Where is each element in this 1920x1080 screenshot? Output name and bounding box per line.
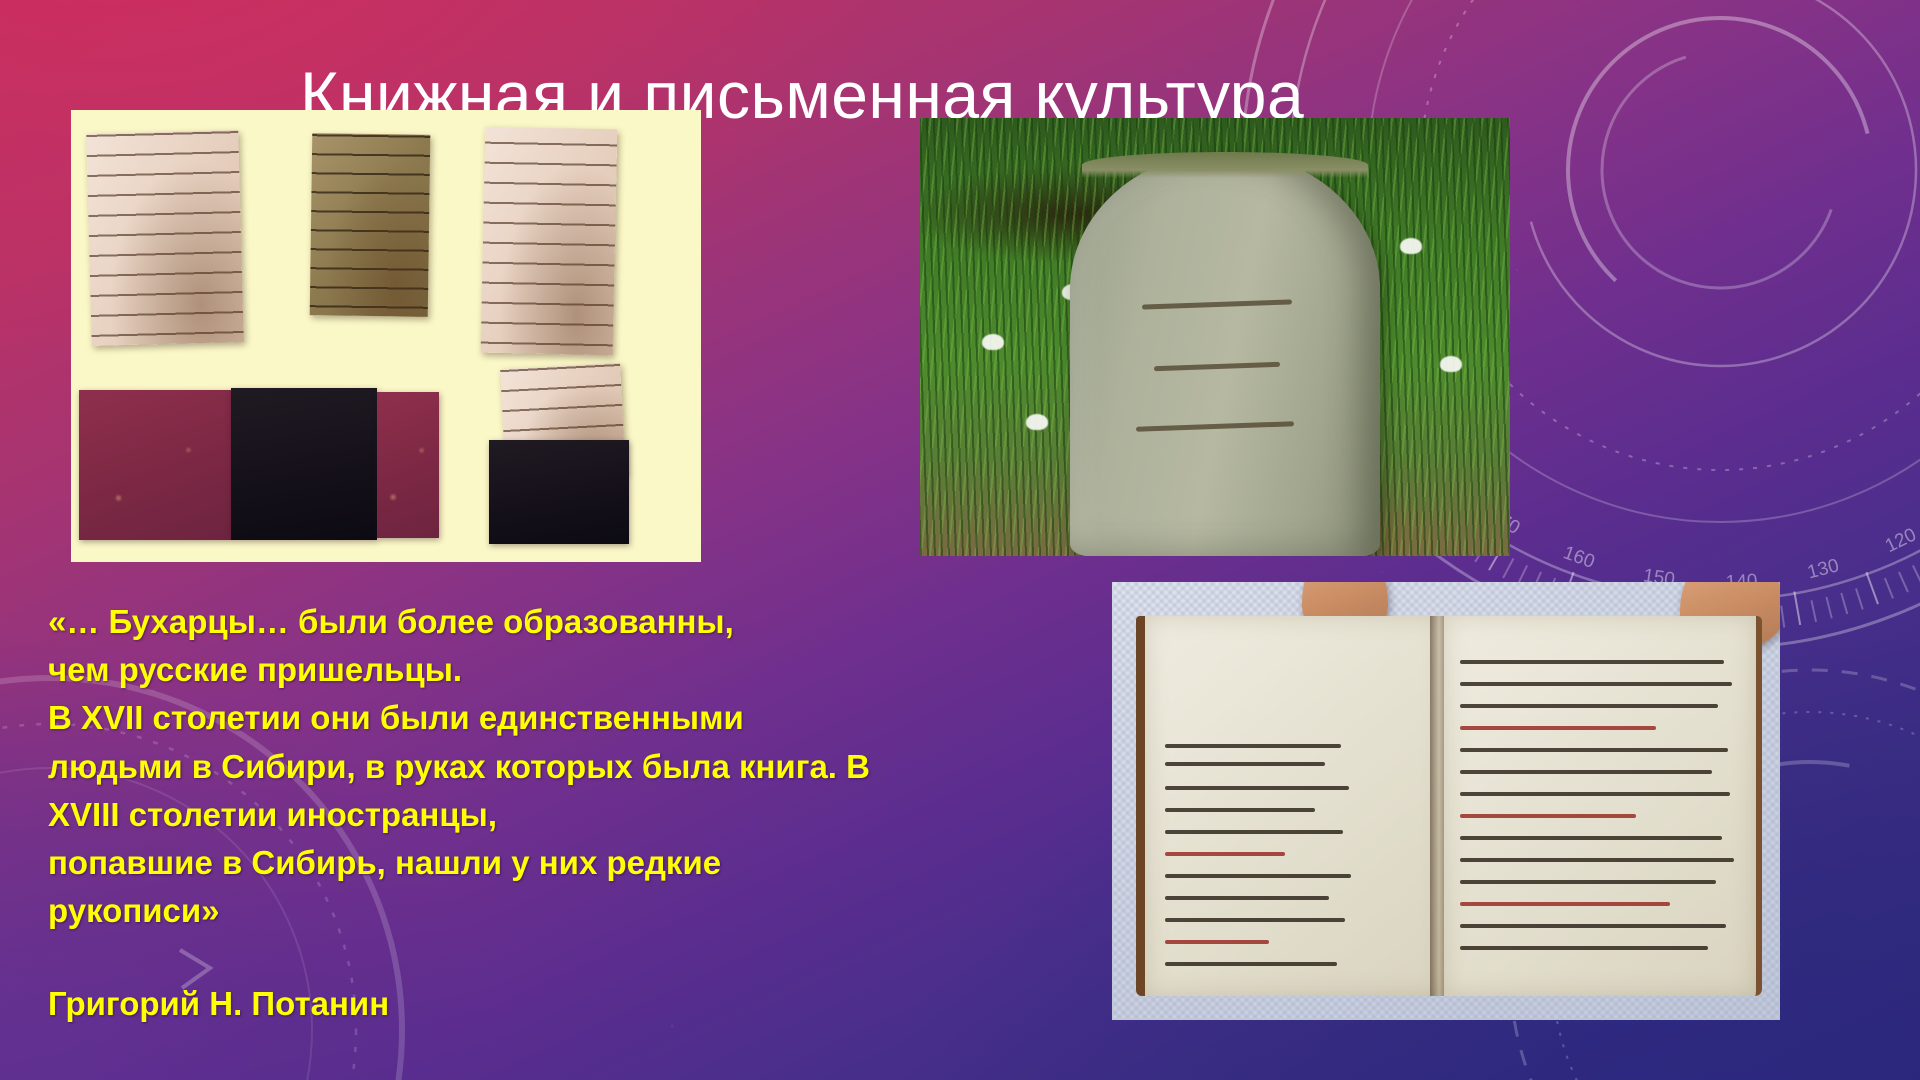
quote-line-3: В XVII столетии они были единственными (48, 694, 948, 742)
textile-wrap-maroon-left (79, 390, 231, 540)
book-page-right (1444, 616, 1762, 996)
slide-canvas: 8090100110120130140150160170180190200210… (0, 0, 1920, 1080)
textile-wrap-maroon-right (377, 392, 439, 538)
manuscript-page-3 (481, 127, 618, 356)
inscription-line-3 (1136, 421, 1294, 432)
inscription-line-2 (1154, 362, 1280, 371)
image-open-manuscript-book (1112, 582, 1780, 1020)
quote-attribution: Григорий Н. Потанин (48, 985, 389, 1023)
gravestone-slab (1070, 152, 1380, 556)
quote-text: «… Бухарцы… были более образованны, чем … (48, 598, 948, 935)
quote-line-7: рукописи» (48, 887, 948, 935)
flower-2 (1026, 414, 1048, 430)
textile-wrap-black-center (231, 388, 377, 540)
manuscript-page-1 (86, 130, 243, 346)
book-page-left (1136, 616, 1445, 996)
flower-5 (1440, 356, 1462, 372)
inscription-line-1 (1142, 299, 1292, 309)
flower-1 (982, 334, 1004, 350)
quote-line-2: чем русские пришельцы. (48, 646, 948, 694)
quote-line-1: «… Бухарцы… были более образованны, (48, 598, 948, 646)
image-gravestone-inscription (920, 118, 1510, 556)
quote-line-4: людьми в Сибири, в руках которых была кн… (48, 743, 948, 791)
flower-4 (1400, 238, 1422, 254)
manuscript-page-2 (310, 133, 431, 317)
quote-line-5: XVIII столетии иностранцы, (48, 791, 948, 839)
quote-line-6: попавшие в Сибирь, нашли у них редкие (48, 839, 948, 887)
textile-wrap-black-right (489, 440, 629, 544)
image-manuscripts-collection (71, 110, 701, 562)
